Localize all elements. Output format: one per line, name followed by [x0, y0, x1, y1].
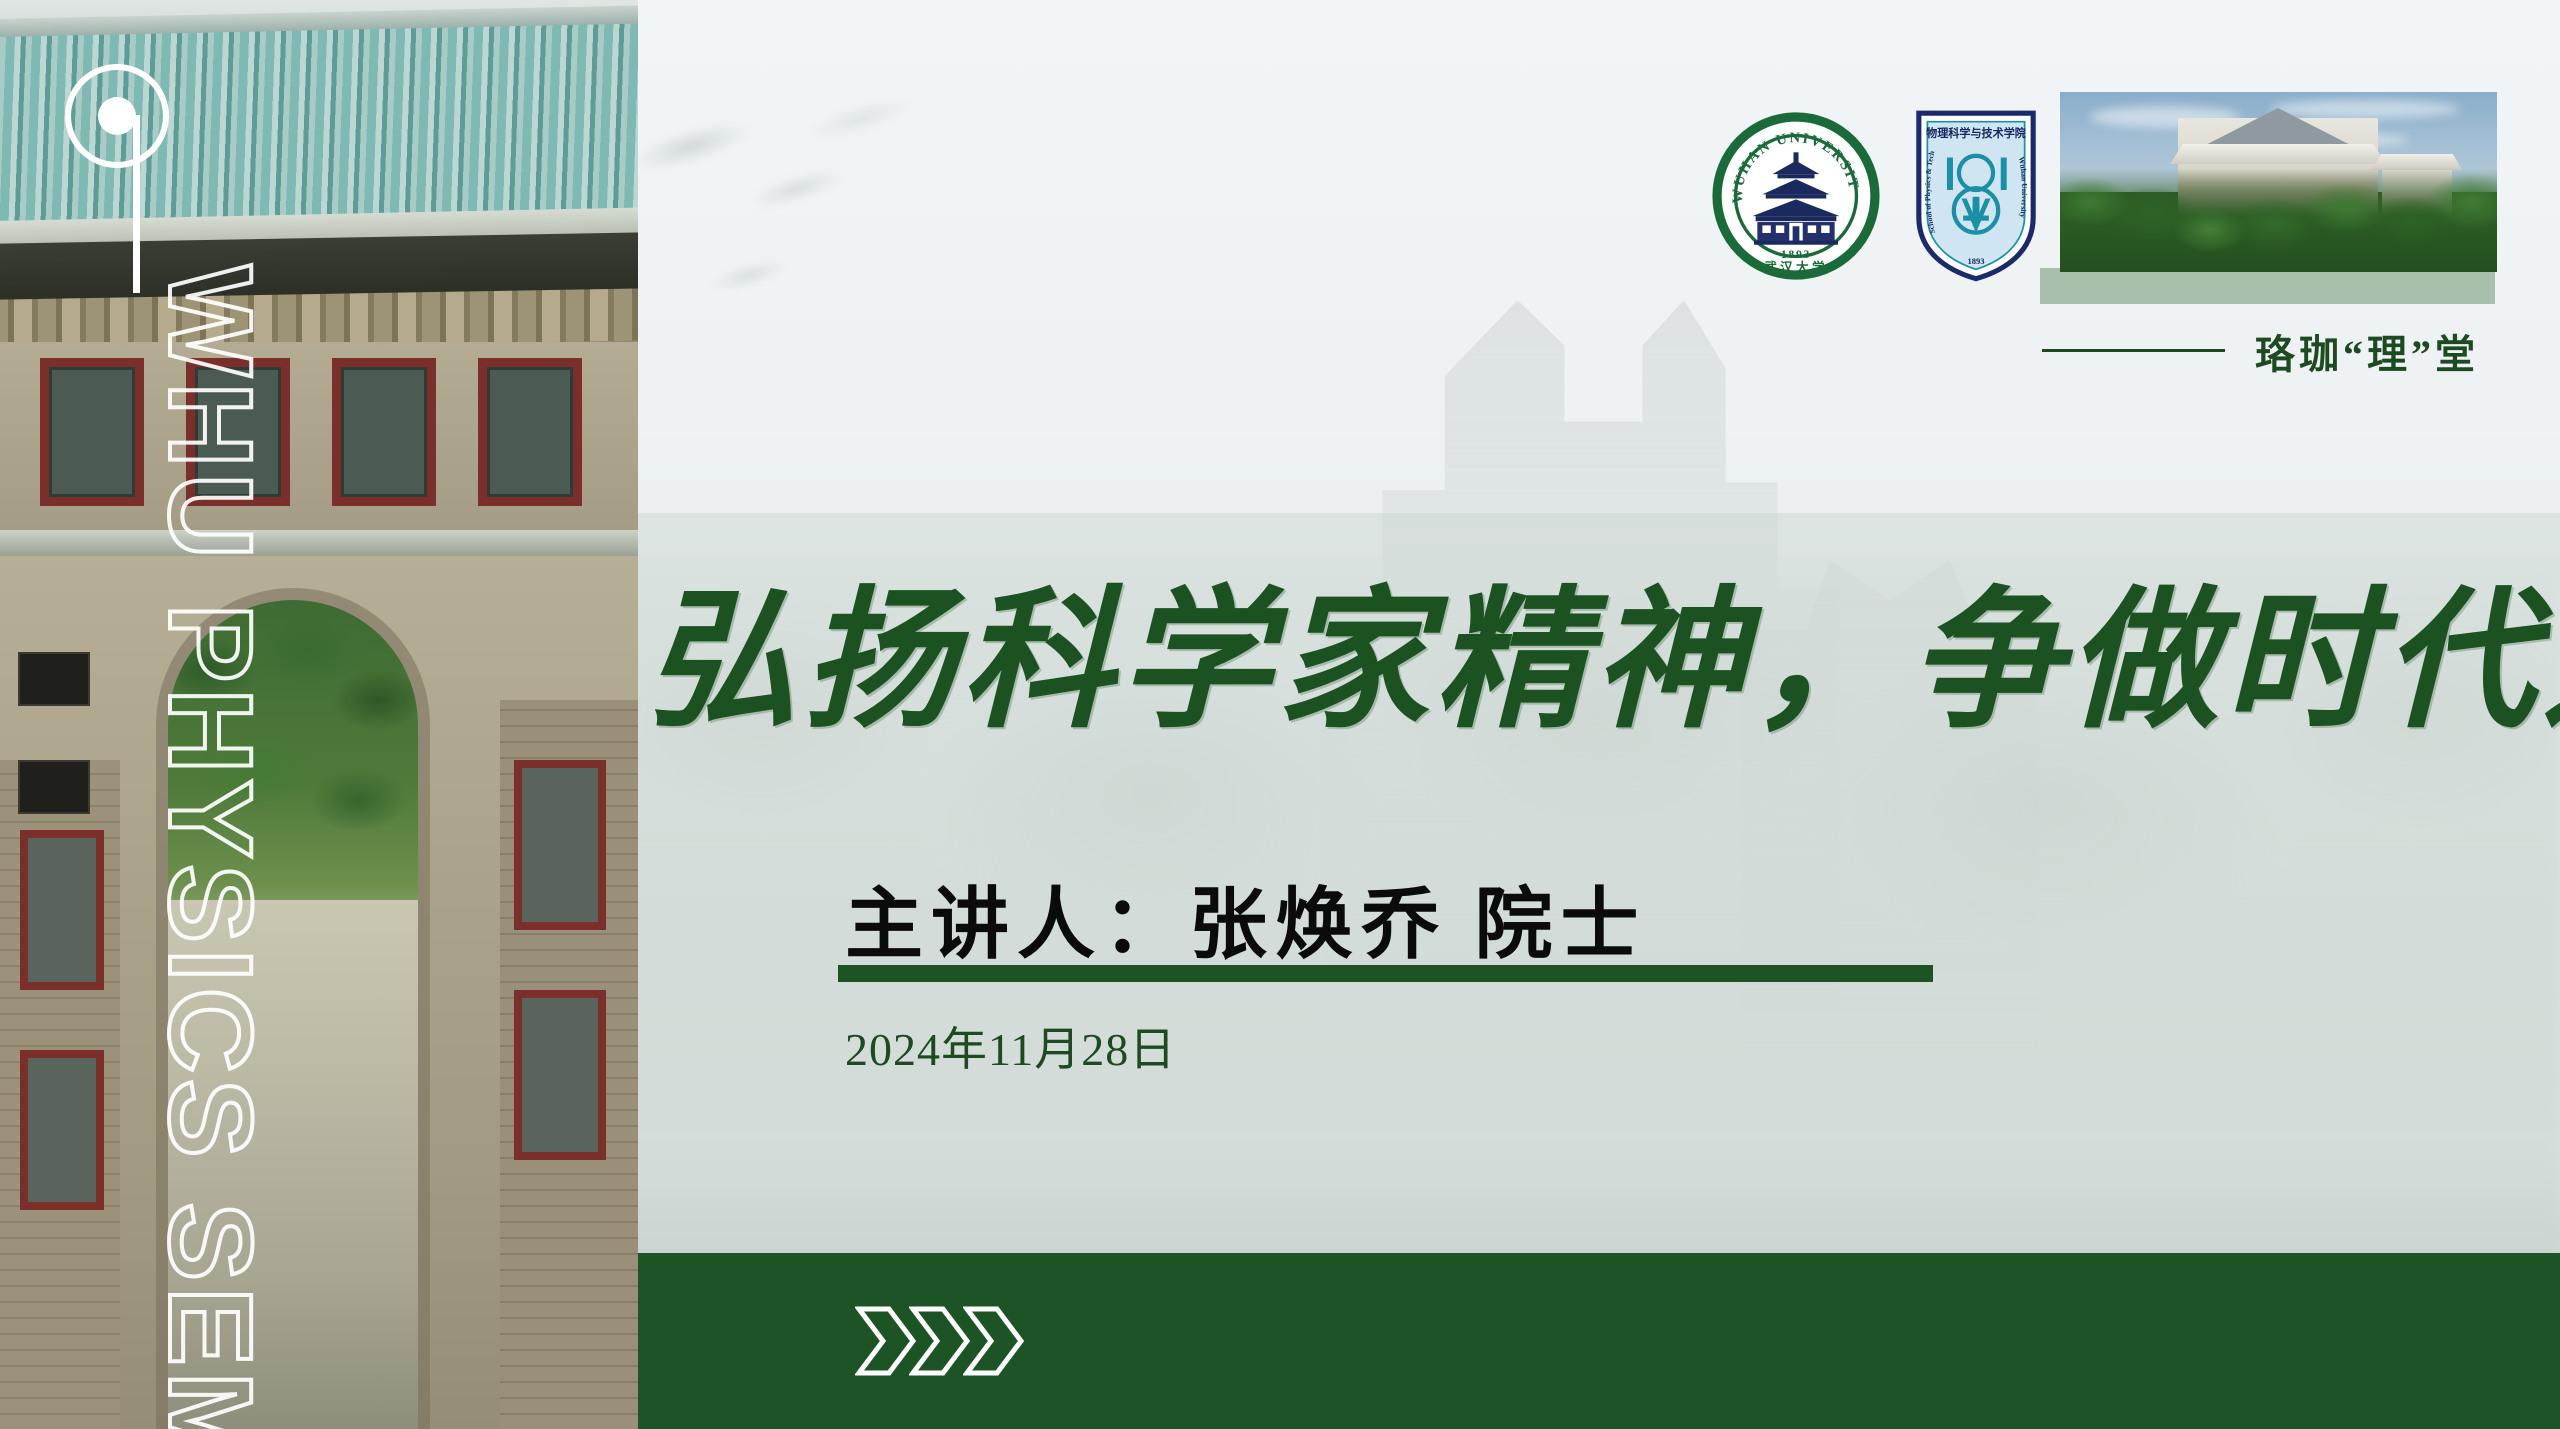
photo-building-eave	[2170, 144, 2386, 164]
svg-text:物理科学与技术学院: 物理科学与技术学院	[1926, 126, 2026, 140]
presentation-title-slide: WHU PHYSICS SEMINAR WUHAN UNIVERSITY	[0, 0, 2560, 1429]
event-date: 2024年11月28日	[845, 1013, 1176, 1079]
series-label-rule	[2042, 349, 2225, 352]
bottom-accent-bar	[638, 1253, 2560, 1429]
pin-stem-icon	[133, 115, 140, 293]
svg-text:1893: 1893	[1781, 248, 1811, 261]
photo-window	[514, 990, 606, 1160]
photo-cloud	[2270, 100, 2460, 118]
page-title: 弘扬科学家精神，争做时代追梦人	[645, 580, 2560, 744]
school-of-physics-crest-icon: 物理科学与技术学院 School of Physics & Technology…	[1912, 108, 2040, 283]
left-campus-photo-panel: WHU PHYSICS SEMINAR	[0, 0, 638, 1429]
photo-window	[20, 1050, 104, 1210]
speaker-underline-bar	[838, 965, 1933, 982]
photo-window	[20, 830, 104, 990]
campus-building-photo	[2060, 92, 2497, 272]
photo-wall-lamp	[18, 652, 90, 706]
pin-dot-icon	[98, 97, 136, 135]
photo-window	[186, 358, 290, 506]
chevron-right-icon	[855, 1305, 917, 1377]
photo-arch-path	[168, 900, 418, 1429]
photo-window	[514, 760, 606, 930]
photo-window	[332, 358, 436, 506]
photo-arch-greenery	[168, 600, 418, 900]
wuhan-university-seal-icon: WUHAN UNIVERSITY 1893 武汉大	[1712, 112, 1880, 280]
chevron-right-icon	[909, 1305, 971, 1377]
svg-text:武汉大学: 武汉大学	[1764, 260, 1828, 275]
photo-cornice	[0, 530, 638, 556]
photo-window	[478, 358, 582, 506]
photo-wall-lamp	[18, 760, 90, 814]
chevron-right-icon	[963, 1305, 1025, 1377]
photo-archway	[168, 600, 418, 1429]
series-label: 珞珈“理”堂	[2255, 322, 2479, 380]
photo-shadow-block	[2040, 268, 2495, 304]
photo-tree-line	[2060, 168, 2497, 272]
chevron-group	[855, 1305, 1035, 1377]
svg-text:1893: 1893	[1967, 256, 1984, 266]
speaker-line: 主讲人：张焕乔 院士	[845, 862, 1647, 974]
photo-window	[40, 358, 144, 506]
